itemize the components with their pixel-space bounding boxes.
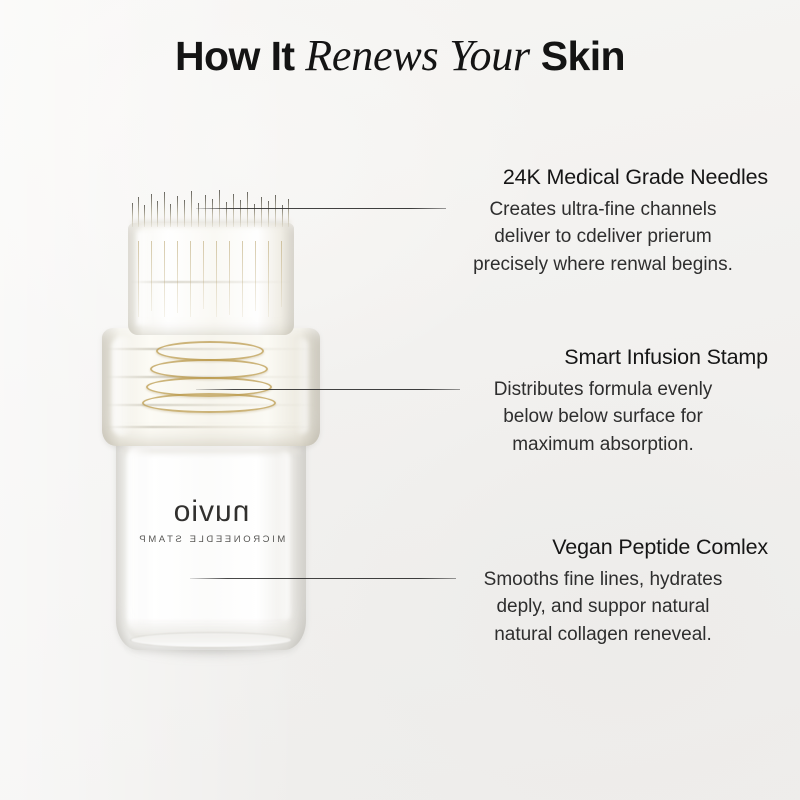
product-image: nuvio MICRONEEDLE STAMP xyxy=(78,175,348,675)
leader-line-stamp xyxy=(196,389,460,390)
bottle-body: nuvio MICRONEEDLE STAMP xyxy=(116,435,306,650)
needle-shafts xyxy=(136,241,286,327)
spring-loop-2 xyxy=(150,359,268,379)
page-title-part-1: How It xyxy=(175,33,305,79)
spring-loop-1 xyxy=(156,341,264,361)
callout-stamp: Smart Infusion Stamp Distributes formula… xyxy=(438,345,768,458)
callout-needles-line-1: Creates ultra-fine channels xyxy=(438,196,768,224)
callout-stamp-title: Smart Infusion Stamp xyxy=(438,345,768,370)
callout-stamp-line-3: maximum absorption. xyxy=(438,431,768,459)
callout-peptide-line-1: Smooths fine lines, hydrates xyxy=(438,566,768,594)
brand-name: nuvio xyxy=(116,497,306,527)
callout-needles-line-3: precisely where renwal begins. xyxy=(438,251,768,279)
product-subtitle: MICRONEEDLE STAMP xyxy=(116,534,306,545)
page-title-part-3: Skin xyxy=(530,33,625,79)
page-title: How It Renews Your Skin xyxy=(0,34,800,78)
callout-needles-line-2: deliver to cdeliver prierum xyxy=(438,223,768,251)
bottle-base-rim xyxy=(130,632,292,648)
microneedle-tips xyxy=(132,181,290,227)
callout-peptide-body: Smooths fine lines, hydrates deply, and … xyxy=(438,566,768,649)
callout-peptide-line-3: natural collagen reneveal. xyxy=(438,621,768,649)
spring-loop-4 xyxy=(142,393,276,413)
callout-peptide: Vegan Peptide Comlex Smooths fine lines,… xyxy=(438,535,768,648)
leader-line-needles xyxy=(196,208,446,209)
leader-line-peptide xyxy=(190,578,456,579)
callout-needles-title: 24K Medical Grade Needles xyxy=(438,165,768,190)
callout-peptide-title: Vegan Peptide Comlex xyxy=(438,535,768,560)
callout-needles: 24K Medical Grade Needles Creates ultra-… xyxy=(438,165,768,278)
collar-highlight-left xyxy=(112,336,134,436)
page-title-part-2: Renews Your xyxy=(305,31,530,80)
callout-needles-body: Creates ultra-fine channels deliver to c… xyxy=(438,196,768,279)
collar-highlight-right xyxy=(295,338,308,434)
gold-spring xyxy=(140,337,282,415)
bottle-label: nuvio MICRONEEDLE STAMP xyxy=(116,497,306,545)
collar-ridge-4 xyxy=(106,426,316,428)
callout-stamp-body: Distributes formula evenly below below s… xyxy=(438,376,768,459)
callout-stamp-line-1: Distributes formula evenly xyxy=(438,376,768,404)
needle-base-shadow xyxy=(132,221,290,229)
callout-stamp-line-2: below below surface for xyxy=(438,403,768,431)
callout-peptide-line-2: deply, and suppor natural xyxy=(438,593,768,621)
